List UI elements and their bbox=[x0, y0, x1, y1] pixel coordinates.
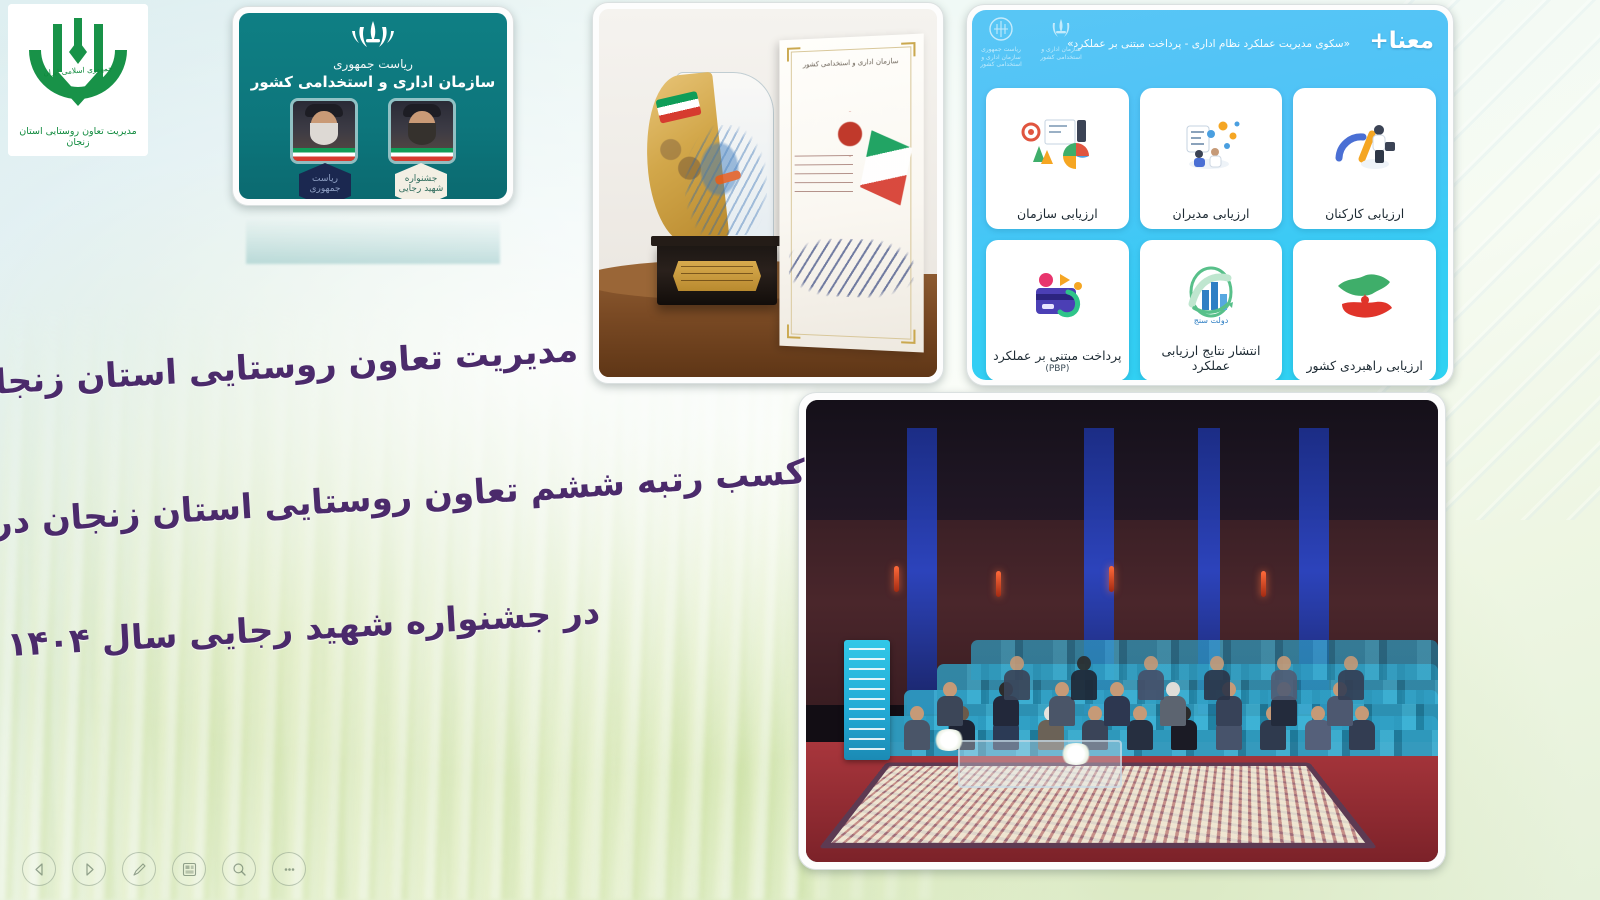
badge-presidency: ریاست جمهوری bbox=[299, 163, 351, 199]
tile-label: ارزیابی مدیران bbox=[1168, 206, 1255, 222]
organization-logo-card: جمهوری اسلامی ایران مدیریت تعاون روستایی… bbox=[8, 4, 148, 156]
pen-tool-button[interactable] bbox=[122, 852, 156, 886]
presentation-slide: جمهوری اسلامی ایران مدیریت تعاون روستایی… bbox=[0, 0, 1600, 900]
iran-map-icon bbox=[1293, 252, 1436, 340]
next-slide-button[interactable] bbox=[72, 852, 106, 886]
badge-festival-label: جشنواره شهید رجایی bbox=[395, 163, 447, 199]
magnifier-icon bbox=[232, 862, 247, 877]
badge-presidency-label: ریاست جمهوری bbox=[299, 163, 351, 199]
award-certificate: سازمان اداری و استخدامی کشور bbox=[779, 33, 923, 352]
tile-organization-evaluation[interactable]: ارزیابی سازمان bbox=[986, 88, 1129, 229]
triangle-left-icon bbox=[33, 863, 46, 876]
tile-label: ارزیابی سازمان bbox=[1012, 206, 1103, 222]
payment-card-icon bbox=[986, 252, 1129, 340]
organization-chart-icon bbox=[986, 100, 1129, 188]
government-banner: ریاست جمهوری سازمان اداری و استخدامی کشو… bbox=[232, 6, 514, 206]
administrative-org-seal-caption: سازمان اداری و استخدامی کشور bbox=[1038, 46, 1084, 61]
more-options-button[interactable] bbox=[272, 852, 306, 886]
badge-festival: جشنواره شهید رجایی bbox=[395, 163, 447, 199]
trophy-plaque bbox=[673, 261, 761, 291]
tile-label: انتشار نتایج ارزیابی عملکرد bbox=[1140, 343, 1283, 374]
performance-gauge-icon bbox=[1293, 100, 1436, 188]
svg-text:دولت سنج: دولت سنج bbox=[1194, 316, 1229, 325]
tile-sublabel: (PBP) bbox=[1045, 364, 1069, 374]
trophy-glass bbox=[677, 73, 773, 249]
presidency-seal-caption: ریاست جمهوری سازمان اداری و استخدامی کشو… bbox=[978, 46, 1024, 69]
trophy-base bbox=[657, 243, 777, 305]
managers-meeting-icon bbox=[1140, 100, 1283, 188]
previous-slide-button[interactable] bbox=[22, 852, 56, 886]
rural-cooperative-logo-icon bbox=[19, 10, 137, 118]
logo-caption: مدیریت تعاون روستایی استان زنجان bbox=[8, 126, 148, 148]
event-roll-up-banner bbox=[844, 640, 890, 760]
pen-icon bbox=[132, 862, 147, 877]
slideshow-toolbar bbox=[22, 852, 306, 886]
tile-staff-evaluation[interactable]: ارزیابی کارکنان bbox=[1293, 88, 1436, 229]
triangle-right-icon bbox=[83, 863, 96, 876]
ellipsis-icon bbox=[282, 862, 297, 877]
mana-brand-title: معنا+ bbox=[1369, 28, 1434, 54]
award-trophy-photo: سازمان اداری و استخدامی کشور bbox=[592, 2, 944, 384]
iran-emblem-icon bbox=[350, 19, 396, 55]
tile-label: ارزیابی کارکنان bbox=[1320, 206, 1409, 222]
mana-subtitle: «سکوی مدیریت عملکرد نظام اداری - پرداخت … bbox=[1067, 38, 1350, 50]
tile-label: پرداخت مبتنی بر عملکرد bbox=[988, 348, 1126, 364]
administrative-org-seal-icon: سازمان اداری و استخدامی کشور bbox=[1038, 16, 1084, 70]
tile-strategic-country-evaluation[interactable]: ارزیابی راهبردی کشور bbox=[1293, 240, 1436, 380]
trophy-calligraphy bbox=[685, 125, 767, 235]
audience-seating bbox=[882, 599, 1438, 756]
ceremony-hall-photo bbox=[798, 392, 1446, 870]
gov-banner-reflection bbox=[246, 210, 500, 264]
iran-flag-icon bbox=[655, 91, 701, 124]
tile-label: ارزیابی راهبردی کشور bbox=[1301, 358, 1427, 374]
mana-platform-panel: معنا+ «سکوی مدیریت عملکرد نظام اداری - پ… bbox=[966, 4, 1454, 386]
dolatsanj-logo-icon: دولت سنج bbox=[1140, 252, 1283, 340]
tile-performance-based-payment[interactable]: پرداخت مبتنی بر عملکرد (PBP) bbox=[986, 240, 1129, 380]
portrait-khamenei bbox=[391, 101, 453, 161]
presidency-seal-icon: ریاست جمهوری سازمان اداری و استخدامی کشو… bbox=[978, 16, 1024, 70]
portrait-khomeini bbox=[293, 101, 355, 161]
tile-managers-evaluation[interactable]: ارزیابی مدیران bbox=[1140, 88, 1283, 229]
slide-overview-button[interactable] bbox=[172, 852, 206, 886]
mana-tile-grid: ارزیابی کارکنان bbox=[986, 88, 1436, 380]
certificate-title-calligraphy bbox=[789, 238, 913, 299]
tile-publish-results[interactable]: دولت سنج انتشار نتایج ارزیابی عملکرد bbox=[1140, 240, 1283, 380]
glass-table bbox=[958, 740, 1122, 788]
grid-icon bbox=[182, 862, 197, 877]
gov-banner-line1: ریاست جمهوری bbox=[239, 57, 507, 71]
zoom-button[interactable] bbox=[222, 852, 256, 886]
gov-banner-line2: سازمان اداری و استخدامی کشور bbox=[239, 73, 507, 91]
